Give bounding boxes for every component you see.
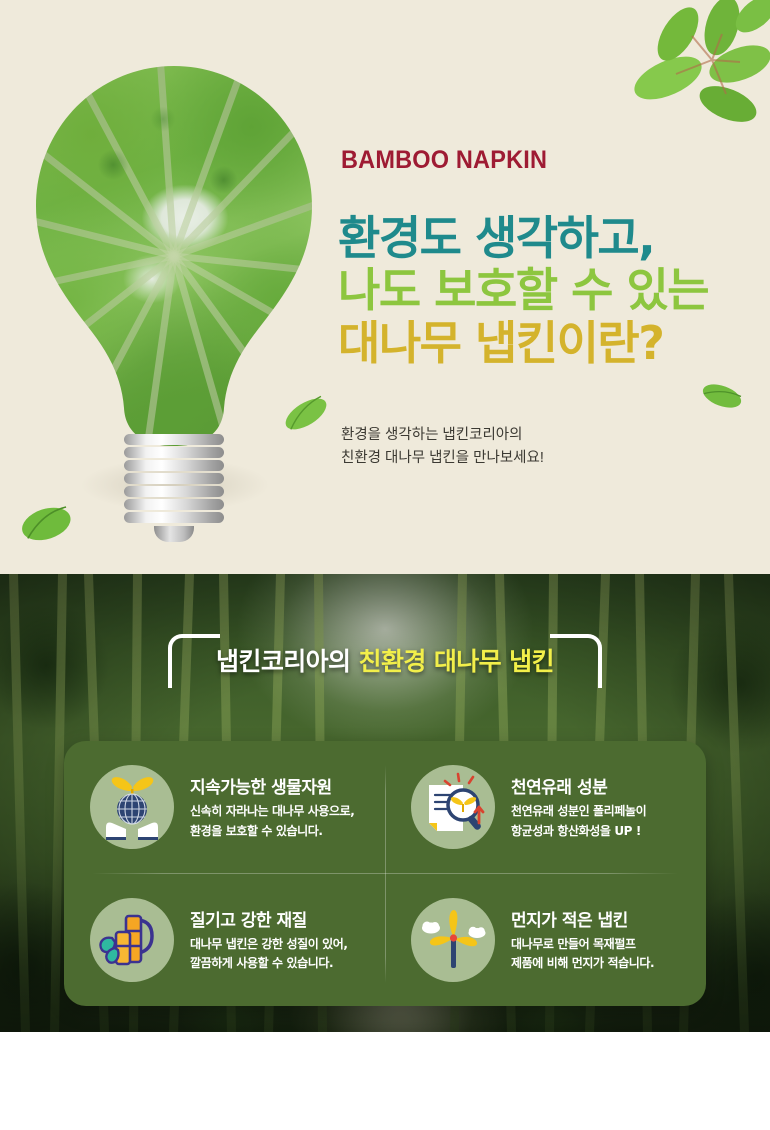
feature-desc-2-line-1: 천연유래 성분인 폴리페놀이 <box>511 802 646 821</box>
eyebrow-label: BAMBOO NAPKIN <box>341 146 547 175</box>
feature-desc-3-line-1: 대나무 냅킨은 강한 성질이 있어, <box>190 935 348 954</box>
pinwheel-clouds-icon <box>411 898 495 982</box>
feature-card-4: 먼지가 적은 냅킨 대나무로 만들어 목재펄프 제품에 비해 먼지가 적습니다. <box>385 874 706 1007</box>
banner-text-white: 냅킨코리아의 <box>216 647 359 676</box>
headline-line-2: 나도 보호할 수 있는 <box>338 264 748 316</box>
bulb-screw-base <box>124 434 224 540</box>
hero-subcopy: 환경을 생각하는 냅킨코리아의 친환경 대나무 냅킨을 만나보세요! <box>341 424 544 471</box>
banner-text-yellow: 친환경 대나무 냅킨 <box>359 647 554 676</box>
hero-section: BAMBOO NAPKIN 환경도 생각하고, 나도 보호할 수 있는 대나무 … <box>0 0 770 574</box>
feature-desc-1-line-2: 환경을 보호할 수 있습니다. <box>190 822 354 841</box>
feature-desc-3-line-2: 깔끔하게 사용할 수 있습니다. <box>190 954 348 973</box>
feature-card-1: 지속가능한 생물자원 신속히 자라나는 대나무 사용으로, 환경을 보호할 수 … <box>64 741 385 874</box>
feature-desc-4-line-1: 대나무로 만들어 목재펄프 <box>511 935 654 954</box>
section-banner-title: 냅킨코리아의 친환경 대나무 냅킨 <box>0 642 770 678</box>
leaf-cluster-icon <box>616 0 770 140</box>
feature-desc-1-line-1: 신속히 자라나는 대나무 사용으로, <box>190 802 354 821</box>
hero-subcopy-line-2: 친환경 대나무 냅킨을 만나보세요! <box>341 447 544 470</box>
document-magnifier-sprout-icon <box>411 765 495 849</box>
feature-panel: 지속가능한 생물자원 신속히 자라나는 대나무 사용으로, 환경을 보호할 수 … <box>64 741 706 1006</box>
bamboo-foliage <box>36 66 312 446</box>
globe-hands-sprout-icon <box>90 765 174 849</box>
feature-title-1: 지속가능한 생물자원 <box>190 773 354 798</box>
feature-card-3: 질기고 강한 재질 대나무 냅킨은 강한 성질이 있어, 깔끔하게 사용할 수 … <box>64 874 385 1007</box>
headline-line-1: 환경도 생각하고, <box>338 212 748 264</box>
leaf-icon-right <box>695 372 749 421</box>
page-title: 환경도 생각하고, 나도 보호할 수 있는 대나무 냅킨이란? <box>338 212 748 369</box>
feature-title-3: 질기고 강한 재질 <box>190 906 348 931</box>
bamboo-lightbulb-image <box>28 66 318 536</box>
feature-title-2: 천연유래 성분 <box>511 773 646 798</box>
feature-desc-2-line-2: 항균성과 항산화성을 UP ! <box>511 822 646 841</box>
section-banner: 냅킨코리아의 친환경 대나무 냅킨 <box>0 626 770 696</box>
landing-page: BAMBOO NAPKIN 환경도 생각하고, 나도 보호할 수 있는 대나무 … <box>0 0 770 1130</box>
headline-line-3: 대나무 냅킨이란? <box>338 317 748 369</box>
feature-desc-4-line-2: 제품에 비해 먼지가 적습니다. <box>511 954 654 973</box>
hero-subcopy-line-1: 환경을 생각하는 냅킨코리아의 <box>341 424 544 447</box>
feature-title-4: 먼지가 적은 냅킨 <box>511 906 654 931</box>
bamboo-stalk-leaf-icon <box>90 898 174 982</box>
feature-card-2: 천연유래 성분 천연유래 성분인 폴리페놀이 항균성과 항산화성을 UP ! <box>385 741 706 874</box>
bulb-glass <box>36 66 312 446</box>
